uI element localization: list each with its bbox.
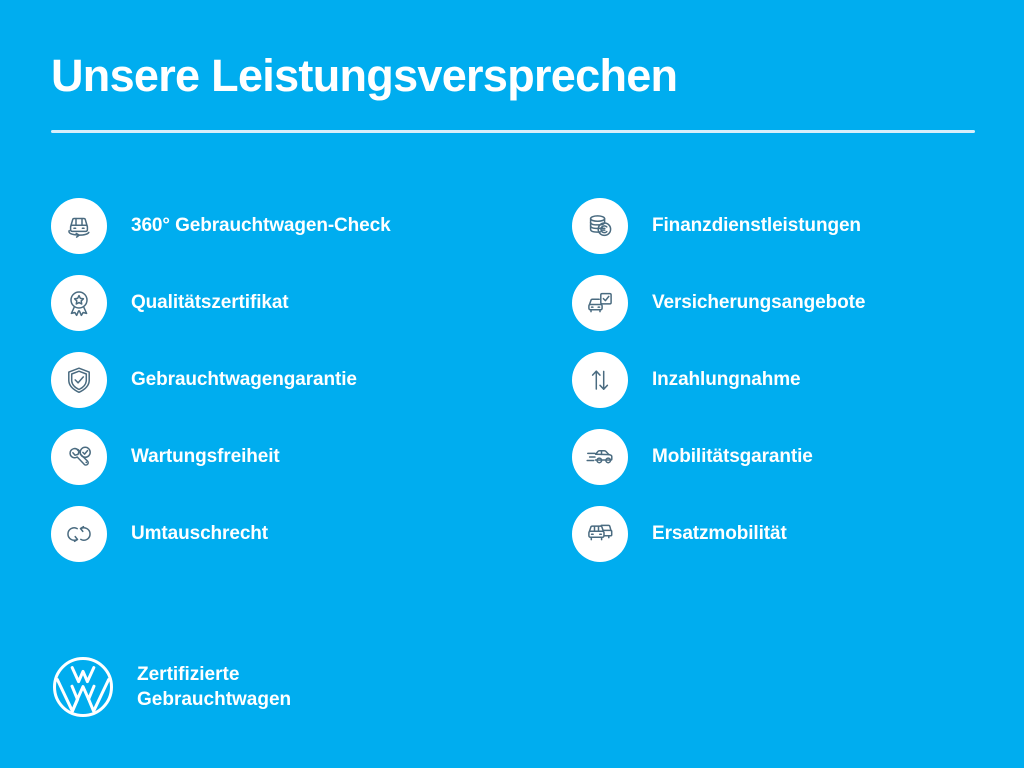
benefit-item[interactable]: 360° Gebrauchtwagen-Check (51, 198, 572, 254)
benefit-item[interactable]: Ersatzmobilität (572, 506, 975, 562)
car-document-check-icon (572, 275, 628, 331)
benefit-item[interactable]: Qualitätszertifikat (51, 275, 572, 331)
volkswagen-logo (51, 655, 115, 719)
benefit-item[interactable]: Wartungsfreiheit (51, 429, 572, 485)
arrows-up-down-icon (572, 352, 628, 408)
brand-text-line2: Gebrauchtwagen (137, 687, 291, 712)
brand-text-line1: Zertifizierte (137, 662, 291, 687)
benefit-label: Versicherungsangebote (652, 292, 865, 314)
benefit-label: Mobilitätsgarantie (652, 446, 813, 468)
benefit-item[interactable]: Versicherungsangebote (572, 275, 975, 331)
benefit-label: Ersatzmobilität (652, 523, 787, 545)
header: Unsere Leistungsversprechen (51, 50, 975, 133)
benefit-label: Qualitätszertifikat (131, 292, 289, 314)
benefit-item[interactable]: Inzahlungnahme (572, 352, 975, 408)
benefits-right-column: Finanzdienstleistungen Versicheru (572, 198, 975, 562)
award-rosette-icon (51, 275, 107, 331)
benefit-item[interactable]: Finanzdienstleistungen (572, 198, 975, 254)
title-divider (51, 130, 975, 133)
benefit-label: Gebrauchtwagengarantie (131, 369, 357, 391)
car-moving-icon (572, 429, 628, 485)
benefit-item[interactable]: Umtauschrecht (51, 506, 572, 562)
two-cars-icon (572, 506, 628, 562)
benefit-label: 360° Gebrauchtwagen-Check (131, 215, 391, 237)
benefit-label: Inzahlungnahme (652, 369, 801, 391)
benefits-left-column: 360° Gebrauchtwagen-Check Qualitätszerti… (51, 198, 572, 562)
benefit-label: Finanzdienstleistungen (652, 215, 861, 237)
benefit-item[interactable]: Mobilitätsgarantie (572, 429, 975, 485)
brand-footer: Zertifizierte Gebrauchtwagen (51, 655, 291, 719)
coins-euro-icon (572, 198, 628, 254)
wrench-check-icon (51, 429, 107, 485)
slide-root: Unsere Leistungsversprechen (0, 0, 1024, 768)
benefits-columns: 360° Gebrauchtwagen-Check Qualitätszerti… (51, 198, 975, 562)
benefit-label: Umtauschrecht (131, 523, 268, 545)
benefit-item[interactable]: Gebrauchtwagengarantie (51, 352, 572, 408)
brand-text: Zertifizierte Gebrauchtwagen (137, 662, 291, 712)
page-title: Unsere Leistungsversprechen (51, 50, 975, 102)
exchange-arrows-icon (51, 506, 107, 562)
shield-check-icon (51, 352, 107, 408)
benefit-label: Wartungsfreiheit (131, 446, 280, 468)
car-360-check-icon (51, 198, 107, 254)
